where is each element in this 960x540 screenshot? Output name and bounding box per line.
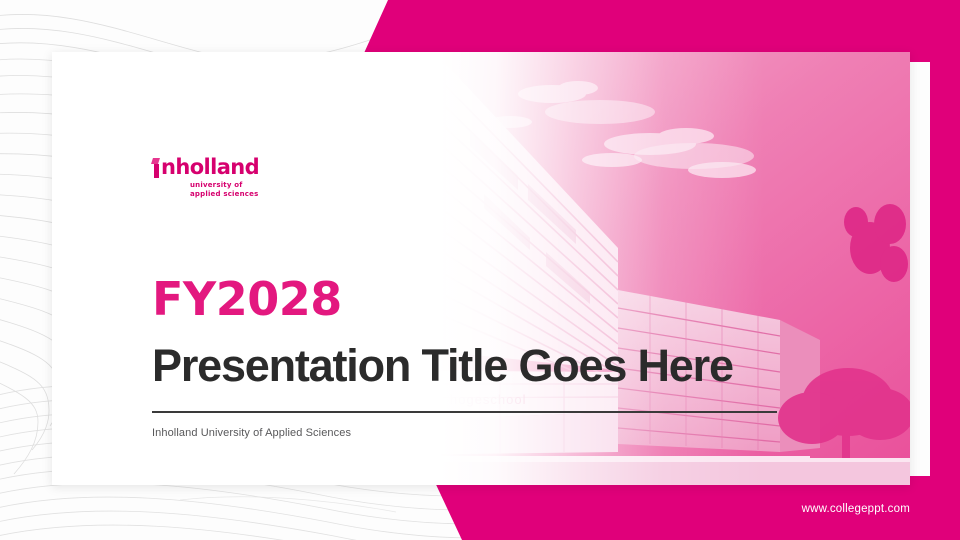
footer-website-url: www.collegeppt.com [802,503,910,515]
inholland-logo: nholland university of applied sciences [152,157,322,199]
building-photo: hogeschool [350,52,910,485]
logo-tagline: university of applied sciences [190,181,322,199]
organization-subtitle: Inholland University of Applied Sciences [152,427,351,439]
logo-tagline-line1: university of [190,181,322,190]
fiscal-year-eyebrow: FY2028 [152,276,342,322]
page-title: Presentation Title Goes Here [152,342,733,389]
title-divider [152,411,777,413]
content-card: hogeschool [52,52,910,485]
logo-wordmark: nholland [152,157,322,178]
logo-tagline-line2: applied sciences [190,190,322,199]
logo-wordmark-text: nholland [161,157,259,178]
svg-text:hogeschool: hogeschool [450,392,527,407]
presentation-slide: hogeschool [0,0,960,540]
logo-i-glyph-icon [152,157,161,178]
